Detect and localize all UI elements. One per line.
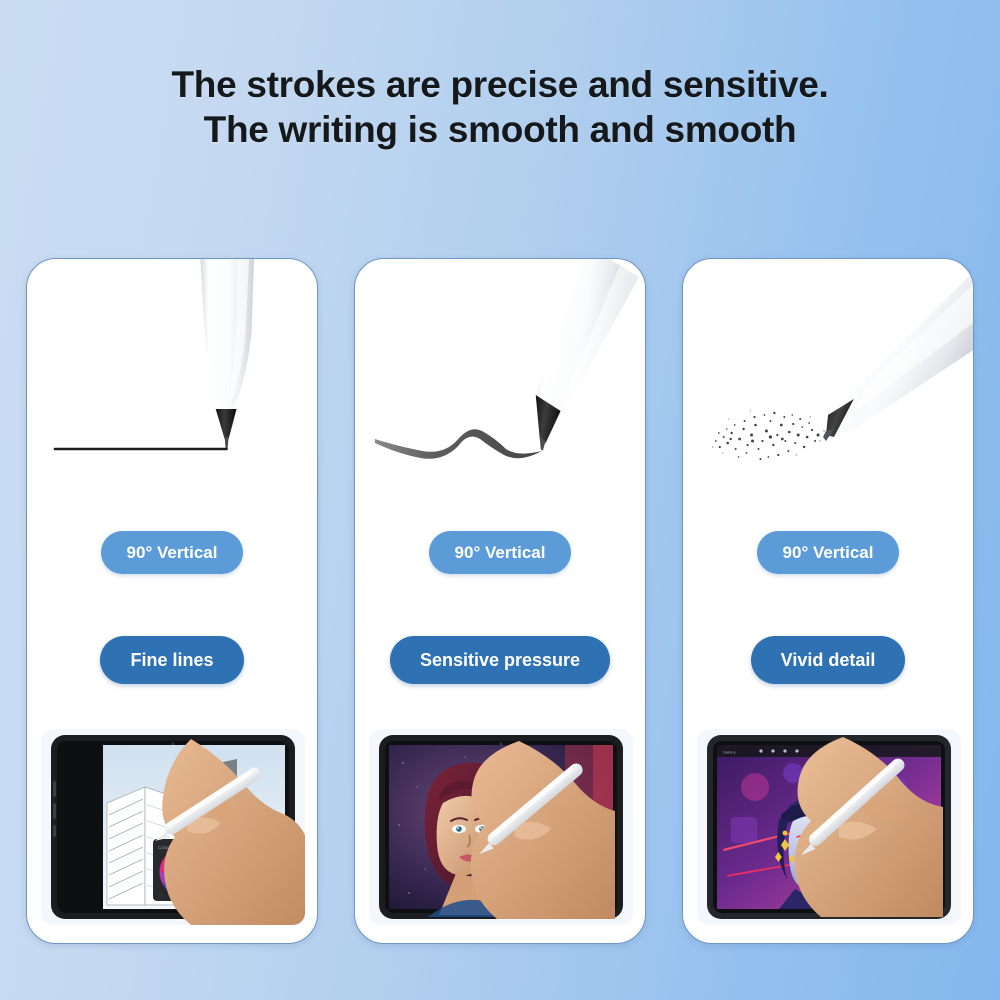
page-headline: The strokes are precise and sensitive. T… [0, 62, 1000, 152]
photo-tablet-architecture-sketch: Colors [41, 729, 305, 925]
badge-group: 90° Vertical Sensitive pressure [355, 531, 645, 684]
badge-group: 90° Vertical Fine lines [27, 531, 317, 684]
badge-vertical-angle: 90° Vertical [757, 531, 900, 574]
badge-feature-name: Vivid detail [751, 636, 906, 684]
photo-tablet-portrait-painting: InkingSketching PaintDry Ink [369, 729, 633, 925]
feature-card-fine-lines: 90° Vertical Fine lines [26, 258, 318, 944]
badge-vertical-angle: 90° Vertical [429, 531, 572, 574]
svg-text:Gallery: Gallery [723, 750, 736, 755]
badge-feature-name: Fine lines [100, 636, 243, 684]
badge-feature-name: Sensitive pressure [390, 636, 610, 684]
illustration-stylus-wavy-stroke [355, 259, 645, 497]
photo-tablet-neon-artwork: Gallery [697, 729, 961, 925]
headline-line-2: The writing is smooth and smooth [0, 107, 1000, 152]
headline-line-1: The strokes are precise and sensitive. [172, 64, 829, 105]
badge-group: 90° Vertical Vivid detail [683, 531, 973, 684]
feature-card-sensitive-pressure: 90° Vertical Sensitive pressure [354, 258, 646, 944]
badge-vertical-angle: 90° Vertical [101, 531, 244, 574]
feature-card-row: 90° Vertical Fine lines [26, 258, 974, 944]
feature-card-vivid-detail: 90° Vertical Vivid detail [682, 258, 974, 944]
illustration-stylus-spray-stipple [683, 259, 973, 497]
illustration-stylus-straight-line [27, 259, 317, 497]
